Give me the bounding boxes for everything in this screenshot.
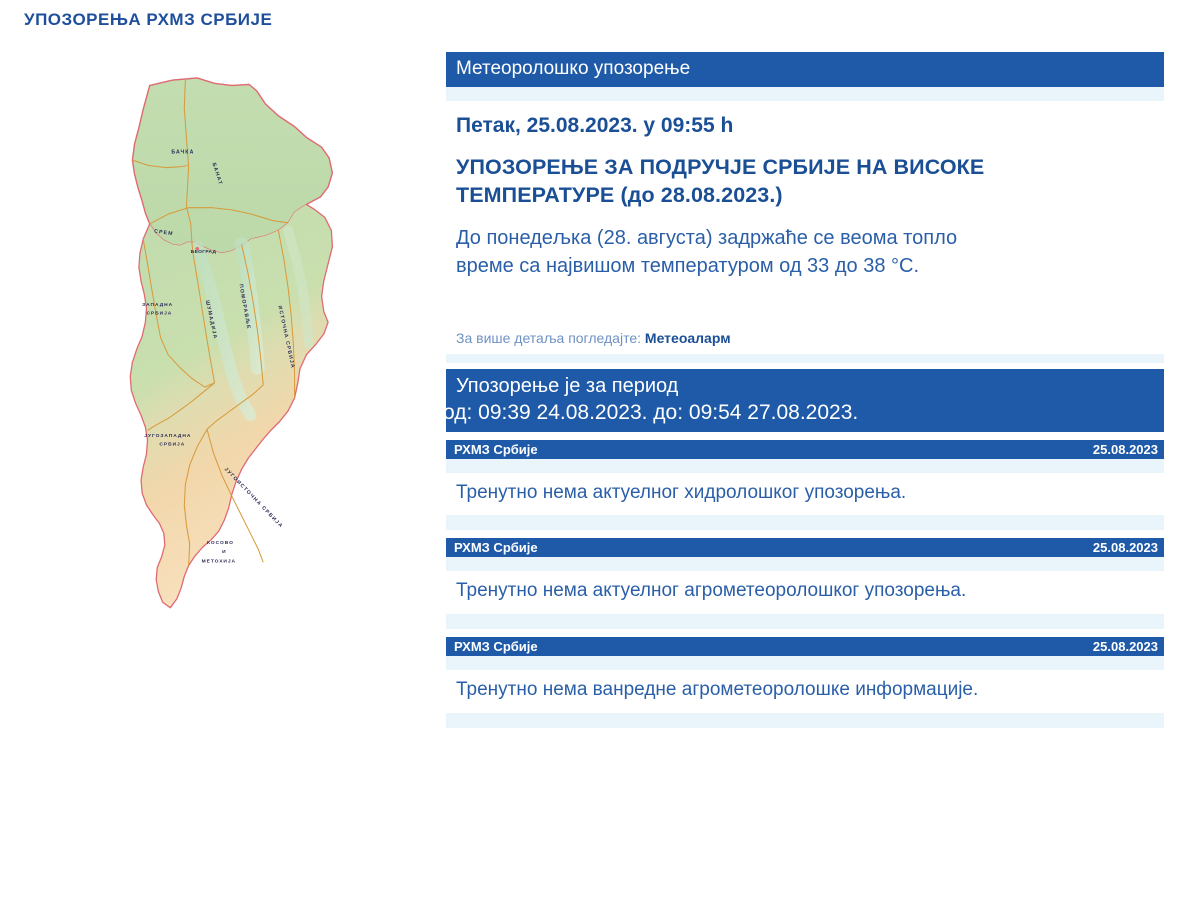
notification-bottom-band: [446, 713, 1164, 728]
warnings-panel: Метеоролошко упозорење Петак, 25.08.2023…: [446, 52, 1164, 728]
notification-date: 25.08.2023: [1093, 538, 1158, 557]
map-label: ЈУГОИСТОЧНА СРБИЈА: [223, 467, 284, 530]
warning-period-block: Упозорење је за период од: 09:39 24.08.2…: [446, 369, 1164, 431]
notification-source: РХМЗ Србије: [454, 440, 538, 459]
map-svg: БАЧКАБАНАТСРЕМБЕОГРАДЗАПАДНАСРБИЈАШУМАДИ…: [22, 52, 432, 652]
warning-body: До понедељка (28. августа) задржаће се в…: [446, 213, 1164, 286]
notification-card[interactable]: РХМЗ Србије25.08.2023Тренутно нема актуе…: [446, 440, 1164, 531]
meteo-warning-header: Метеоролошко упозорење: [446, 52, 1164, 87]
notification-card[interactable]: РХМЗ Србије25.08.2023Тренутно нема актуе…: [446, 538, 1164, 629]
warning-period-title: Упозорење је за период: [446, 373, 1164, 399]
notification-date: 25.08.2023: [1093, 440, 1158, 459]
notification-header: РХМЗ Србије25.08.2023: [446, 440, 1164, 459]
notification-header: РХМЗ Србије25.08.2023: [446, 538, 1164, 557]
period-tint-band: [446, 354, 1164, 363]
warning-issued-date: Петак, 25.08.2023. у 09:55 h: [446, 101, 1164, 144]
notification-text: Тренутно нема ванредне агрометеоролошке …: [446, 670, 1164, 713]
serbia-region-map[interactable]: БАЧКАБАНАТСРЕМБЕОГРАДЗАПАДНАСРБИЈАШУМАДИ…: [22, 52, 432, 652]
map-label: БАЧКА: [171, 150, 194, 156]
map-label: БЕОГРАД: [191, 249, 217, 255]
notification-date: 25.08.2023: [1093, 637, 1158, 656]
notification-source: РХМЗ Србије: [454, 538, 538, 557]
notification-card[interactable]: РХМЗ Србије25.08.2023Тренутно нема ванре…: [446, 637, 1164, 728]
page-title: УПОЗОРЕЊА РХМЗ СРБИЈЕ: [24, 10, 272, 30]
map-country-body: [130, 78, 332, 608]
map-label: ЗАПАДНА: [142, 302, 173, 308]
map-label: СРБИЈА: [146, 311, 172, 317]
map-label: МЕТОХИЈА: [202, 558, 236, 564]
notification-text: Тренутно нема актуелног агрометеоролошко…: [446, 571, 1164, 614]
map-label: КОСОВО: [207, 540, 234, 546]
warning-headline-line2: ТЕМПЕРАТУРЕ (до 28.08.2023.): [456, 182, 1154, 210]
warning-period-range: од: 09:39 24.08.2023. до: 09:54 27.08.20…: [443, 399, 1164, 426]
map-label: СРБИЈА: [159, 442, 185, 448]
notification-bottom-band: [446, 515, 1164, 530]
map-label: И: [222, 549, 226, 555]
warning-body-line2: време са највишом температуром од 33 до …: [456, 253, 1154, 281]
notification-list: РХМЗ Србије25.08.2023Тренутно нема актуе…: [446, 440, 1164, 728]
warning-body-line1: До понедељка (28. августа) задржаће се в…: [456, 225, 1154, 253]
meteoalarm-link[interactable]: Метеоаларм: [645, 330, 731, 346]
notification-bottom-band: [446, 614, 1164, 629]
notification-header: РХМЗ Србије25.08.2023: [446, 637, 1164, 656]
more-details-prefix: За више детаља погледајте:: [456, 330, 641, 346]
header-tint-band: [446, 87, 1164, 101]
warning-headline-line1: УПОЗОРЕЊЕ ЗА ПОДРУЧЈЕ СРБИЈЕ НА ВИСОКЕ: [456, 154, 1154, 182]
map-label: ЈУГОЗАПАДНА: [144, 433, 191, 439]
notification-top-band: [446, 557, 1164, 571]
notification-top-band: [446, 656, 1164, 670]
more-details-line: За више детаља погледајте: Метеоаларм: [446, 286, 1164, 354]
notification-source: РХМЗ Србије: [454, 637, 538, 656]
warning-headline: УПОЗОРЕЊЕ ЗА ПОДРУЧЈЕ СРБИЈЕ НА ВИСОКЕ Т…: [446, 144, 1164, 213]
notification-text: Тренутно нема актуелног хидролошког упоз…: [446, 473, 1164, 516]
notification-top-band: [446, 459, 1164, 473]
